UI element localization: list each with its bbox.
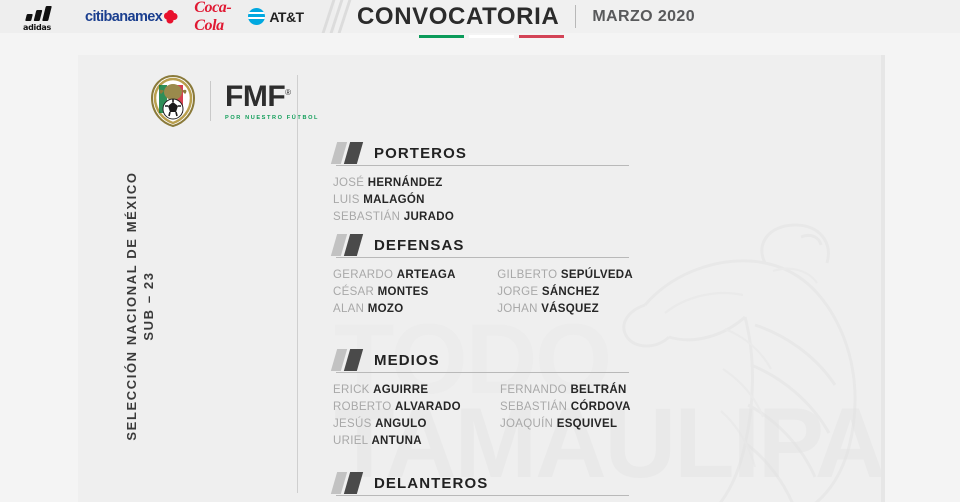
section-header: MEDIOS <box>333 347 633 373</box>
tricolor-green <box>419 35 464 38</box>
player-row: JOHAN VÁSQUEZ <box>497 301 633 317</box>
panel-right-edge <box>881 55 885 502</box>
tricolor-red <box>519 35 564 38</box>
adidas-logo-icon: adidas <box>22 4 68 30</box>
team-vertical-label: SELECCIÓN NACIONAL DE MÉXICO SUB – 23 <box>124 181 156 431</box>
player-row: SEBASTIÁN JURADO <box>333 209 454 225</box>
section-header: PORTEROS <box>333 140 633 166</box>
player-row: LUIS MALAGÓN <box>333 192 454 208</box>
fmf-tagline: POR NUESTRO FÚTBOL <box>225 115 319 121</box>
fmf-logo: FMF® POR NUESTRO FÚTBOL <box>225 82 319 121</box>
section-slant-marks-icon <box>333 234 366 256</box>
player-column-left: JOSÉ HERNÁNDEZ LUIS MALAGÓN SEBASTIÁN JU… <box>333 175 454 225</box>
mexico-federation-crest-icon <box>150 75 196 127</box>
title-block: CONVOCATORIA MARZO 2020 <box>357 3 695 31</box>
sponsor-cocacola: Coca-Cola <box>194 0 231 33</box>
vertical-divider <box>297 75 298 493</box>
player-row: JOAQUÍN ESQUIVEL <box>500 416 631 432</box>
section-defensas: DEFENSAS GERARDO ARTEAGA CÉSAR MONTES AL… <box>333 232 633 317</box>
player-row: GERARDO ARTEAGA <box>333 267 497 283</box>
page-title: CONVOCATORIA <box>357 3 559 31</box>
section-slant-marks-icon <box>333 142 366 164</box>
player-row: JORGE SÁNCHEZ <box>497 284 633 300</box>
player-columns: ERICK AGUIRRE ROBERTO ALVARADO JESÚS ANG… <box>333 382 633 449</box>
team-category-line: SUB – 23 <box>141 271 156 340</box>
sponsor-strip: adidas citibanamex Coca-Cola AT&T <box>0 0 335 33</box>
section-delanteros: DELANTEROS JESÚS GODÍNEZ JOSÉ JUAN MACÍA… <box>333 470 633 502</box>
player-row: GILBERTO SEPÚLVEDA <box>497 267 633 283</box>
content-panel: TODO TAMAULIPAS <box>78 55 885 502</box>
brand-divider <box>210 81 211 121</box>
section-title: PORTEROS <box>374 145 467 162</box>
fmf-wordmark: FMF® <box>225 82 319 112</box>
section-medios: MEDIOS ERICK AGUIRRE ROBERTO ALVARADO JE… <box>333 347 633 449</box>
section-rule <box>336 495 629 496</box>
eagle-watermark-icon <box>605 185 885 502</box>
section-rule <box>336 165 629 166</box>
section-title: DEFENSAS <box>374 237 464 254</box>
tricolor-bar <box>419 35 564 38</box>
tricolor-white <box>469 35 514 38</box>
team-name-line: SELECCIÓN NACIONAL DE MÉXICO <box>124 171 139 440</box>
player-columns: GERARDO ARTEAGA CÉSAR MONTES ALAN MOZO G… <box>333 267 633 317</box>
player-columns: JOSÉ HERNÁNDEZ LUIS MALAGÓN SEBASTIÁN JU… <box>333 175 633 225</box>
player-column-left: ERICK AGUIRRE ROBERTO ALVARADO JESÚS ANG… <box>333 382 500 449</box>
adidas-wordmark: adidas <box>23 23 51 32</box>
page-header: adidas citibanamex Coca-Cola AT&T CONVOC… <box>0 0 960 33</box>
att-wordmark: AT&T <box>269 9 303 25</box>
att-globe-icon <box>248 8 265 25</box>
player-row: CÉSAR MONTES <box>333 284 497 300</box>
citibanamex-wordmark: citibanamex <box>85 9 162 25</box>
player-row: ALAN MOZO <box>333 301 497 317</box>
player-column-right: GILBERTO SEPÚLVEDA JORGE SÁNCHEZ JOHAN V… <box>497 267 633 317</box>
player-row: JESÚS ANGULO <box>333 416 500 432</box>
player-row: ROBERTO ALVARADO <box>333 399 500 415</box>
section-title: DELANTEROS <box>374 475 488 492</box>
federation-brand: FMF® POR NUESTRO FÚTBOL <box>150 75 319 127</box>
section-title: MEDIOS <box>374 352 440 369</box>
section-rule <box>336 372 629 373</box>
player-row: ERICK AGUIRRE <box>333 382 500 398</box>
header-slant-divider <box>323 0 335 33</box>
title-separator <box>575 5 576 28</box>
cocacola-wordmark-icon: Coca-Cola <box>194 0 231 35</box>
player-row: SEBASTIÁN CÓRDOVA <box>500 399 631 415</box>
citibanamex-flower-icon <box>164 10 177 23</box>
section-slant-marks-icon <box>333 472 366 494</box>
sponsor-citibanamex: citibanamex <box>85 0 177 33</box>
section-header: DELANTEROS <box>333 470 633 496</box>
player-row: FERNANDO BELTRÁN <box>500 382 631 398</box>
player-column-right: FERNANDO BELTRÁN SEBASTIÁN CÓRDOVA JOAQU… <box>500 382 631 449</box>
section-header: DEFENSAS <box>333 232 633 258</box>
player-row: URIEL ANTUNA <box>333 433 500 449</box>
player-column-left: GERARDO ARTEAGA CÉSAR MONTES ALAN MOZO <box>333 267 497 317</box>
section-slant-marks-icon <box>333 349 366 371</box>
page-subtitle: MARZO 2020 <box>592 8 695 26</box>
sponsor-adidas: adidas <box>22 0 68 33</box>
sponsor-att: AT&T <box>248 0 303 33</box>
player-row: JOSÉ HERNÁNDEZ <box>333 175 454 191</box>
section-porteros: PORTEROS JOSÉ HERNÁNDEZ LUIS MALAGÓN SEB… <box>333 140 633 225</box>
section-rule <box>336 257 629 258</box>
